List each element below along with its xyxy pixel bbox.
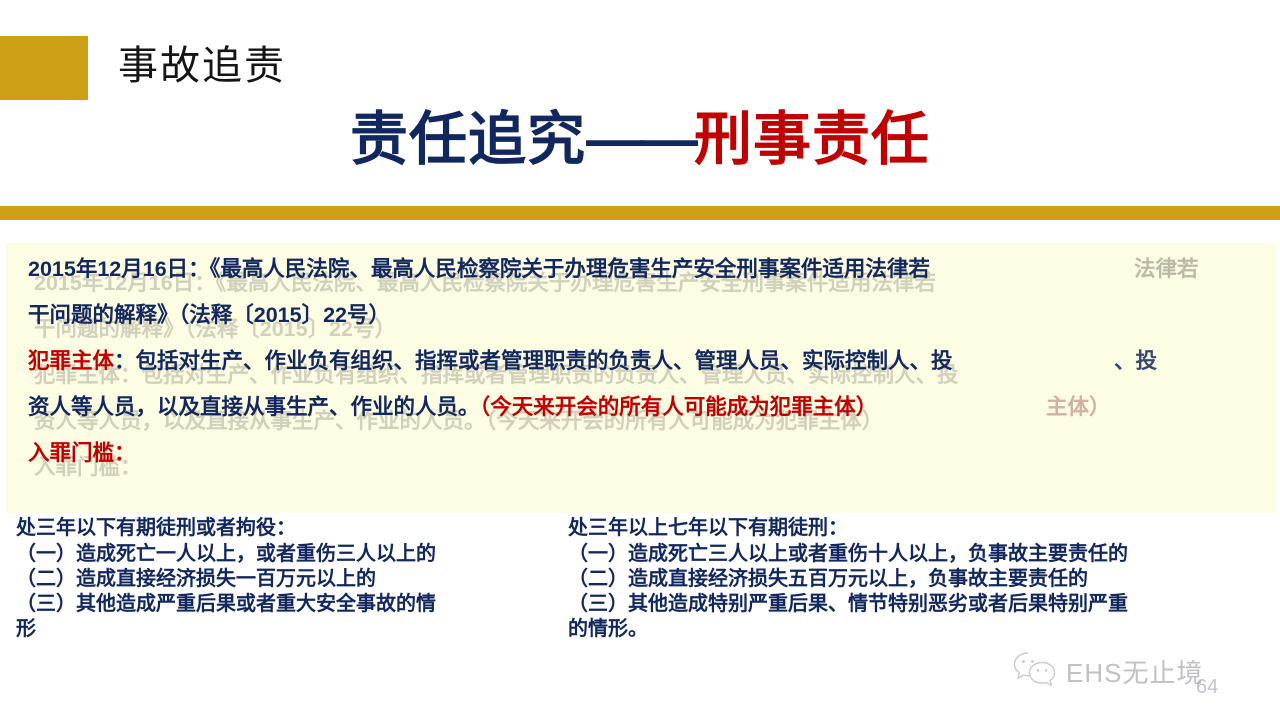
page-title: 责任追究——刑事责任 — [0, 104, 1280, 176]
content-paragraph-1: 2015年12月16日：《最高人民法院、最高人民检察院关于办理危害生产安全刑事案… — [28, 255, 930, 283]
page-title-dash: —— — [586, 107, 694, 172]
header-accent-block — [0, 36, 88, 100]
column-heading: 处三年以下有期徒刑或者拘役： — [16, 516, 564, 541]
column-item: （一）造成死亡三人以上或者重伤十人以上，负事故主要责任的 — [568, 542, 1268, 567]
column-item: （三）其他造成严重后果或者重大安全事故的情 — [16, 592, 564, 617]
content-paragraph-2: 干问题的解释》（法释〔2015〕22号） — [28, 301, 390, 329]
gold-divider — [0, 206, 1280, 220]
paragraph-red-lead: 犯罪主体 — [28, 349, 114, 373]
column-heading: 处三年以上七年以下有期徒刑： — [568, 516, 1268, 541]
content-paragraph-5: 入罪门槛： — [28, 439, 136, 467]
watermark: EHS无止境 — [1012, 650, 1203, 693]
paragraph-red-lead: 入罪门槛： — [28, 441, 136, 465]
column-item: （二）造成直接经济损失一百万元以上的 — [16, 567, 564, 592]
column-item: （三）其他造成特别严重后果、情节特别恶劣或者后果特别严重 — [568, 592, 1268, 617]
page-title-primary: 责任追究 — [350, 107, 586, 172]
content-card: 2015年12月16日：《最高人民法院、最高人民检察院关于办理危害生产安全刑事案… — [6, 243, 1275, 513]
content-paragraph-3: 犯罪主体：包括对生产、作业负有组织、指挥或者管理职责的负责人、管理人员、实际控制… — [28, 347, 953, 375]
penalty-column-right: 处三年以上七年以下有期徒刑： （一）造成死亡三人以上或者重伤十人以上，负事故主要… — [568, 516, 1268, 642]
column-item: （二）造成直接经济损失五百万元以上，负事故主要责任的 — [568, 567, 1268, 592]
content-paragraph-4: 资人等人员，以及直接从事生产、作业的人员。（今天来开会的所有人可能成为犯罪主体） — [28, 393, 877, 421]
paragraph-text: 资人等人员，以及直接从事生产、作业的人员。 — [28, 395, 480, 419]
penalty-column-left: 处三年以下有期徒刑或者拘役： （一）造成死亡一人以上，或者重伤三人以上的 （二）… — [16, 516, 564, 642]
paragraph-text: ：包括对生产、作业负有组织、指挥或者管理职责的负责人、管理人员、实际控制人、投 — [114, 349, 953, 373]
column-item: 的情形。 — [568, 617, 1268, 642]
paragraph-text: 2015年12月16日：《最高人民法院、最高人民检察院关于办理危害生产安全刑事案… — [28, 257, 930, 281]
page-title-emphasis: 刑事责任 — [694, 107, 930, 172]
ghost-tail-artifact: 法律若 — [1134, 255, 1199, 283]
column-item: 形 — [16, 617, 564, 642]
ghost-tail-artifact: 主体） — [1046, 393, 1111, 421]
section-label: 事故追责 — [118, 34, 286, 98]
ghost-tail-artifact: 、投 — [1114, 347, 1157, 375]
paragraph-text: 干问题的解释》（法释〔2015〕22号） — [28, 303, 390, 327]
paragraph-red-tail: （今天来开会的所有人可能成为犯罪主体） — [480, 395, 878, 419]
wechat-icon — [1012, 650, 1058, 693]
watermark-text: EHS无止境 — [1066, 653, 1203, 690]
page-number: 64 — [1196, 676, 1218, 699]
column-item: （一）造成死亡一人以上，或者重伤三人以上的 — [16, 542, 564, 567]
